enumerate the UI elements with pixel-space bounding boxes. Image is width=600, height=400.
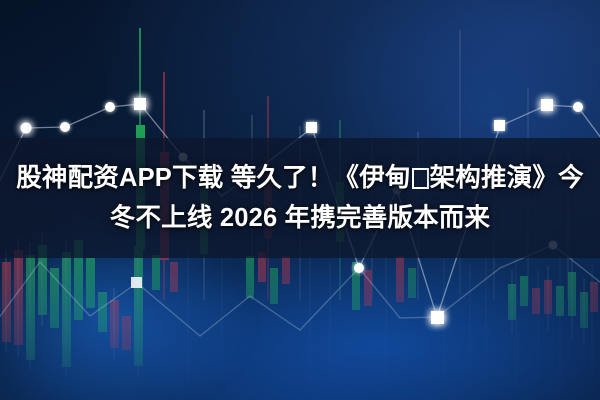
headline-line-1-part-1: 股神配资APP下载 等久了！《伊甸 (16, 164, 410, 192)
missing-glyph-box (412, 168, 429, 189)
headline-block: 股神配资APP下载 等久了！《伊甸架构推演》今 冬不上线 2026 年携完善版本… (0, 138, 600, 258)
headline-line-1-part-2: 架构推演》今 (430, 164, 584, 192)
banner-image: 股神配资APP下载 等久了！《伊甸架构推演》今 冬不上线 2026 年携完善版本… (0, 0, 600, 400)
headline-line-2: 冬不上线 2026 年携完善版本而来 (110, 201, 491, 235)
headline-line-1: 股神配资APP下载 等久了！《伊甸架构推演》今 (16, 161, 584, 195)
